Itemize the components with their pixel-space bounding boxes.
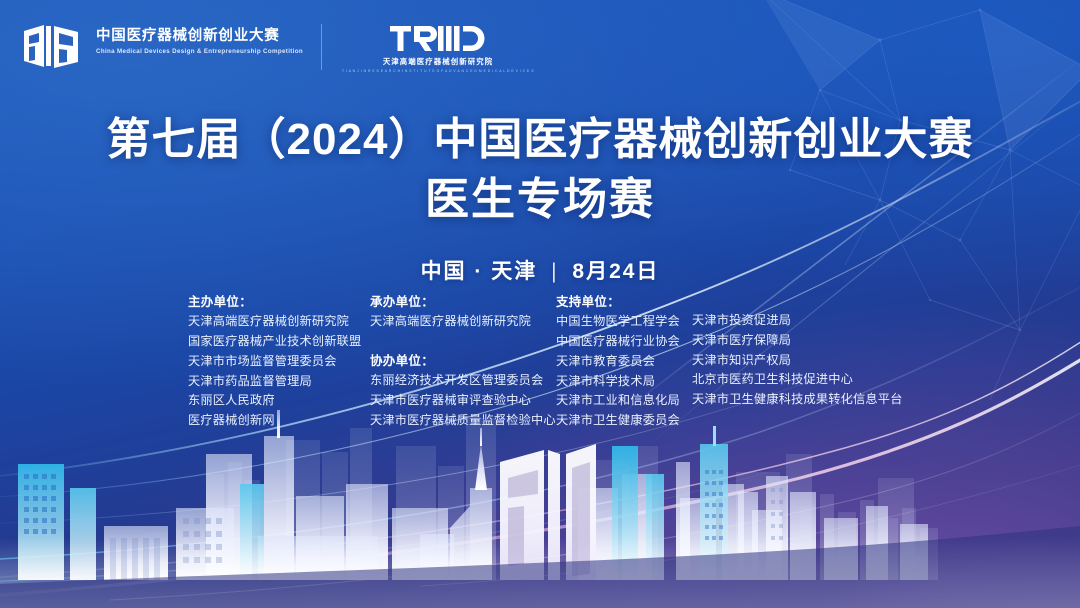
location-text: 中国 · 天津	[421, 260, 538, 283]
location-date-line: 中国 · 天津 | 8月24日	[0, 255, 1080, 285]
list-item: 国家医疗器械产业技术创新联盟	[188, 332, 370, 352]
organizer-column-4: 天津市投资促进局 天津市医疗保障局 天津市知识产权局 北京市医药卫生科技促进中心…	[692, 292, 903, 431]
column-top-pad	[692, 292, 903, 311]
group-heading-organizer: 承办单位：	[370, 292, 556, 312]
title-line-2: 医生专场赛	[0, 173, 1080, 227]
group-heading-coorganizer: 协办单位：	[370, 351, 556, 371]
list-item: 北京市医药卫生科技促进中心	[692, 370, 903, 390]
trimd-wordmark-icon	[390, 24, 486, 54]
organizer-column-1: 主办单位： 天津高端医疗器械创新研究院 国家医疗器械产业技术创新联盟 天津市市场…	[188, 292, 370, 431]
logo2-chinese-name: 天津高端医疗器械创新研究院	[383, 58, 493, 67]
organizer-column-3: 支持单位： 中国生物医学工程学会 中国医疗器械行业协会 天津市教育委员会 天津市…	[556, 292, 692, 431]
logo-divider	[321, 24, 322, 70]
poster-title: 第七届（2024）中国医疗器械创新创业大赛 医生专场赛	[0, 113, 1080, 226]
poster-canvas: 中国医疗器械创新创业大赛 China Medical Devices Desig…	[0, 0, 1080, 608]
logo2-english-name: T I A N J I N R E S E A R C H I N S T I …	[342, 69, 534, 73]
list-item: 天津市工业和信息化局	[556, 391, 692, 411]
logo1-english-name: China Medical Devices Design & Entrepren…	[96, 48, 303, 55]
location-date-separator: |	[545, 260, 564, 284]
list-item: 天津市医疗保障局	[692, 331, 903, 351]
group-heading-host: 主办单位：	[188, 292, 370, 312]
header-logos: 中国医疗器械创新创业大赛 China Medical Devices Desig…	[22, 22, 534, 73]
list-item: 天津市卫生健康科技成果转化信息平台	[692, 390, 903, 410]
list-item: 东丽区人民政府	[188, 391, 370, 411]
title-line-1: 第七届（2024）中国医疗器械创新创业大赛	[0, 113, 1080, 167]
date-text: 8月24日	[572, 260, 659, 283]
list-item: 天津市医疗器械质量监督检验中心	[370, 411, 556, 431]
list-item: 天津高端医疗器械创新研究院	[188, 312, 370, 332]
list-item: 天津市医疗器械审评查验中心	[370, 391, 556, 411]
list-item: 天津高端医疗器械创新研究院	[370, 312, 556, 332]
group-spacer	[370, 332, 556, 351]
list-item: 天津市投资促进局	[692, 311, 903, 331]
list-item: 中国医疗器械行业协会	[556, 332, 692, 352]
organizer-column-2: 承办单位： 天津高端医疗器械创新研究院 协办单位： 东丽经济技术开发区管理委员会…	[370, 292, 556, 431]
list-item: 天津市科学技术局	[556, 372, 692, 392]
logo1-chinese-name: 中国医疗器械创新创业大赛	[96, 28, 303, 45]
list-item: 天津市卫生健康委员会	[556, 411, 692, 431]
list-item: 天津市教育委员会	[556, 352, 692, 372]
list-item: 东丽经济技术开发区管理委员会	[370, 371, 556, 391]
list-item: 天津市药品监督管理局	[188, 372, 370, 392]
group-heading-supporter: 支持单位：	[556, 292, 692, 312]
list-item: 医疗器械创新网	[188, 411, 370, 431]
organizers-block: 主办单位： 天津高端医疗器械创新研究院 国家医疗器械产业技术创新联盟 天津市市场…	[188, 292, 918, 431]
logo1-text-block: 中国医疗器械创新创业大赛 China Medical Devices Desig…	[96, 22, 303, 55]
list-item: 天津市知识产权局	[692, 351, 903, 371]
list-item: 天津市市场监督管理委员会	[188, 352, 370, 372]
logo2-block: 天津高端医疗器械创新研究院 T I A N J I N R E S E A R …	[342, 22, 534, 73]
door-gate-icon	[22, 22, 80, 70]
list-item: 中国生物医学工程学会	[556, 312, 692, 332]
